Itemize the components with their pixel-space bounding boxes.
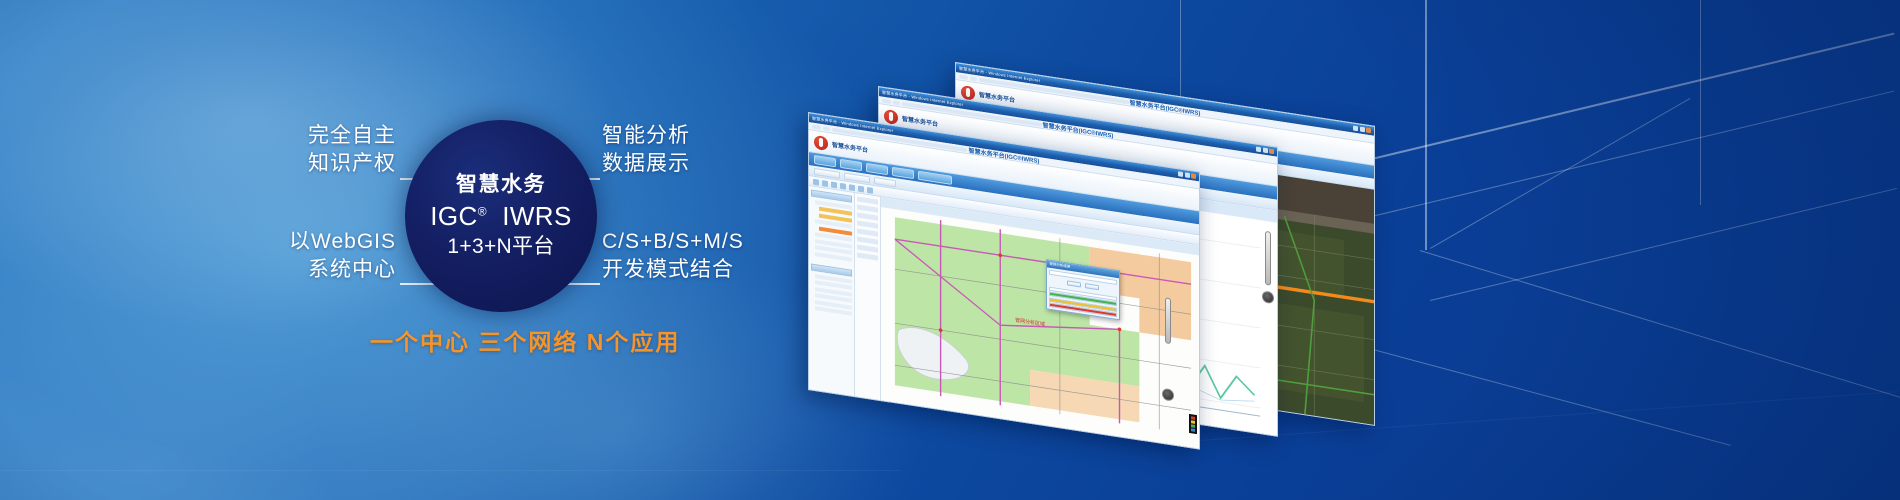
nav-item[interactable]	[814, 155, 836, 167]
banner-root: 智慧水务平台 - Windows Internet Explorer 智慧水务平…	[0, 0, 1900, 500]
feature-top-left-line2: 知识产权	[196, 150, 396, 178]
feature-bottom-right-line2: 开发模式结合	[602, 256, 744, 284]
feature-top-right: 智能分析 数据展示	[602, 122, 690, 179]
hub-title-en-main: IGC	[430, 201, 477, 231]
window-front[interactable]: 智慧水务平台 - Windows Internet Explorer 智慧水务平…	[808, 112, 1200, 450]
toolbar-icon[interactable]	[867, 186, 873, 193]
feature-bottom-right-line1: C/S+B/S+M/S	[602, 228, 744, 256]
hub-platform-label: 1+3+N平台	[447, 234, 554, 259]
toolbar-icon[interactable]	[813, 178, 819, 185]
dialog-cancel-button[interactable]	[1085, 284, 1099, 291]
toolbar-icon[interactable]	[858, 185, 864, 192]
feature-bottom-left-line1: 以WebGIS	[176, 228, 396, 256]
feature-top-left-line1: 完全自主	[196, 122, 396, 150]
feature-bottom-left: 以WebGIS 系统中心	[176, 228, 396, 285]
water-drop-logo-icon	[814, 134, 828, 150]
nav-item[interactable]	[840, 159, 862, 171]
subnav-item[interactable]	[874, 177, 896, 187]
feature-top-left: 完全自主 知识产权	[196, 122, 396, 179]
feature-top-right-line1: 智能分析	[602, 122, 690, 150]
map-zoom-slider[interactable]	[1165, 298, 1171, 345]
zoom-slider[interactable]	[1265, 231, 1271, 286]
hub-title-cn: 智慧水务	[456, 173, 546, 196]
water-drop-logo-icon	[884, 108, 898, 124]
hub-title-en-second: IWRS	[502, 201, 571, 231]
hub-title-en: IGC® IWRS	[430, 202, 571, 231]
central-hub-circle: 智慧水务 IGC® IWRS 1+3+N平台	[405, 120, 597, 312]
nav-item[interactable]	[866, 163, 888, 175]
map-legend	[1189, 414, 1197, 434]
toolbar-icon[interactable]	[849, 184, 855, 191]
banner-tagline: 一个中心 三个网络 N个应用	[370, 323, 680, 357]
window-middle-brand: 智慧水务平台	[902, 114, 938, 128]
dialog-confirm-button[interactable]	[1067, 281, 1081, 288]
toolbar-icon[interactable]	[840, 182, 846, 189]
registered-mark-icon: ®	[478, 205, 487, 219]
feature-bottom-left-line2: 系统中心	[176, 256, 396, 284]
toolbar-icon[interactable]	[822, 180, 828, 187]
nav-item[interactable]	[892, 167, 914, 179]
layer-tree-panel[interactable]	[809, 186, 855, 398]
map-tool-column[interactable]	[855, 193, 881, 402]
toolbar-icon[interactable]	[831, 181, 837, 188]
feature-top-right-line2: 数据展示	[602, 150, 690, 178]
window-front-brand: 智慧水务平台	[832, 140, 868, 154]
feature-bottom-right: C/S+B/S+M/S 开发模式结合	[602, 228, 744, 285]
